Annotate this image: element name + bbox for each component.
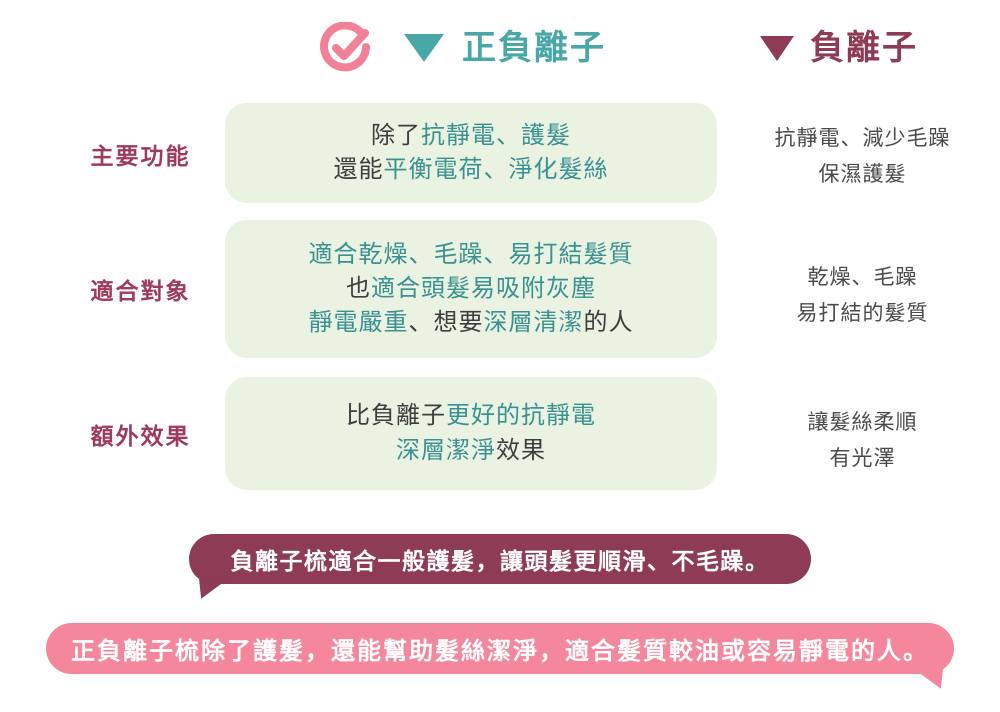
bubble-tail-icon bbox=[907, 665, 943, 688]
text-segment: 靜電嚴重 bbox=[309, 309, 409, 336]
header-column-negative-ion: 負離子 bbox=[760, 20, 990, 76]
cell-line: 讓髮絲柔順 bbox=[735, 405, 990, 441]
row-left-cell: 除了抗靜電、護髮 還能平衡電荷、淨化髮絲 bbox=[225, 103, 717, 203]
row-label-extra-effect: 額外效果 bbox=[58, 417, 223, 451]
summary-bubble-negative-ion: 負離子梳適合一般護髮，讓頭髮更順滑、不毛躁。 bbox=[189, 534, 811, 584]
triangle-down-icon bbox=[404, 34, 444, 62]
cell-line: 除了抗靜電、護髮 bbox=[371, 119, 571, 153]
text-segment: 除了 bbox=[371, 122, 421, 149]
check-circle-icon bbox=[318, 22, 372, 74]
text-segment: 適合頭髮易吸附灰塵 bbox=[371, 275, 596, 302]
cell-line: 比負離子更好的抗靜電 bbox=[346, 399, 596, 433]
comparison-row: 額外效果 比負離子更好的抗靜電 深層潔淨效果 讓髮絲柔順 有光澤 bbox=[0, 377, 1000, 490]
row-right-cell: 讓髮絲柔順 有光澤 bbox=[735, 405, 990, 477]
row-left-cell: 適合乾燥、毛躁、易打結髮質 也適合頭髮易吸附灰塵 靜電嚴重、想要深層清潔的人 bbox=[225, 220, 717, 358]
text-segment: 效果 bbox=[496, 437, 546, 464]
row-label-suitable-for: 適合對象 bbox=[58, 272, 223, 306]
comparison-row: 適合對象 適合乾燥、毛躁、易打結髮質 也適合頭髮易吸附灰塵 靜電嚴重、想要深層清… bbox=[0, 220, 1000, 358]
header-column-positive-negative-ion: 正負離子 bbox=[404, 20, 704, 76]
text-segment: 適合乾燥、毛躁、易打結髮質 bbox=[309, 241, 634, 268]
text-segment: 平衡電荷、淨化髮絲 bbox=[384, 156, 609, 183]
cell-line: 抗靜電、減少毛躁 bbox=[735, 121, 990, 157]
cell-line: 還能平衡電荷、淨化髮絲 bbox=[334, 153, 609, 187]
cell-line: 深層潔淨效果 bbox=[396, 434, 546, 468]
summary-bubble-positive-negative-ion: 正負離子梳除了護髮，還能幫助髮絲潔淨，適合髮質較油或容易靜電的人。 bbox=[46, 623, 954, 674]
header: 正負離子 負離子 bbox=[0, 0, 1000, 96]
cell-line: 適合乾燥、毛躁、易打結髮質 bbox=[309, 238, 634, 272]
cell-line: 靜電嚴重、想要深層清潔的人 bbox=[309, 306, 634, 340]
summary-bubble-text: 負離子梳適合一般護髮，讓頭髮更順滑、不毛躁。 bbox=[231, 542, 770, 576]
row-right-cell: 抗靜電、減少毛躁 保濕護髮 bbox=[735, 121, 990, 193]
cell-line: 易打結的髮質 bbox=[735, 296, 990, 332]
cell-line: 保濕護髮 bbox=[735, 157, 990, 193]
text-segment: 、想要 bbox=[409, 309, 484, 336]
comparison-infographic: 正負離子 負離子 主要功能 除了抗靜電、護髮 還能平衡電荷、淨化髮絲 抗靜電、減… bbox=[0, 0, 1000, 712]
text-segment: 的人 bbox=[584, 309, 634, 336]
summary-bubble-text: 正負離子梳除了護髮，還能幫助髮絲潔淨，適合髮質較油或容易靜電的人。 bbox=[71, 631, 929, 666]
cell-line: 有光澤 bbox=[735, 441, 990, 477]
triangle-down-icon bbox=[760, 36, 794, 61]
comparison-row: 主要功能 除了抗靜電、護髮 還能平衡電荷、淨化髮絲 抗靜電、減少毛躁 保濕護髮 bbox=[0, 103, 1000, 203]
text-segment: 比負離子 bbox=[346, 402, 446, 429]
text-segment: 深層潔淨 bbox=[396, 437, 496, 464]
text-segment: 深層清潔 bbox=[484, 309, 584, 336]
text-segment: 更好的抗靜電 bbox=[446, 402, 596, 429]
cell-line: 也適合頭髮易吸附灰塵 bbox=[346, 272, 596, 306]
row-right-cell: 乾燥、毛躁 易打結的髮質 bbox=[735, 260, 990, 332]
header-label-left: 正負離子 bbox=[462, 31, 606, 65]
text-segment: 還能 bbox=[334, 156, 384, 183]
text-segment: 也 bbox=[346, 275, 371, 302]
header-label-right: 負離子 bbox=[810, 31, 918, 65]
bubble-tail-icon bbox=[199, 575, 235, 598]
row-left-cell: 比負離子更好的抗靜電 深層潔淨效果 bbox=[225, 377, 717, 490]
row-label-main-function: 主要功能 bbox=[58, 137, 223, 171]
cell-line: 乾燥、毛躁 bbox=[735, 260, 990, 296]
text-segment: 抗靜電、護髮 bbox=[421, 122, 571, 149]
